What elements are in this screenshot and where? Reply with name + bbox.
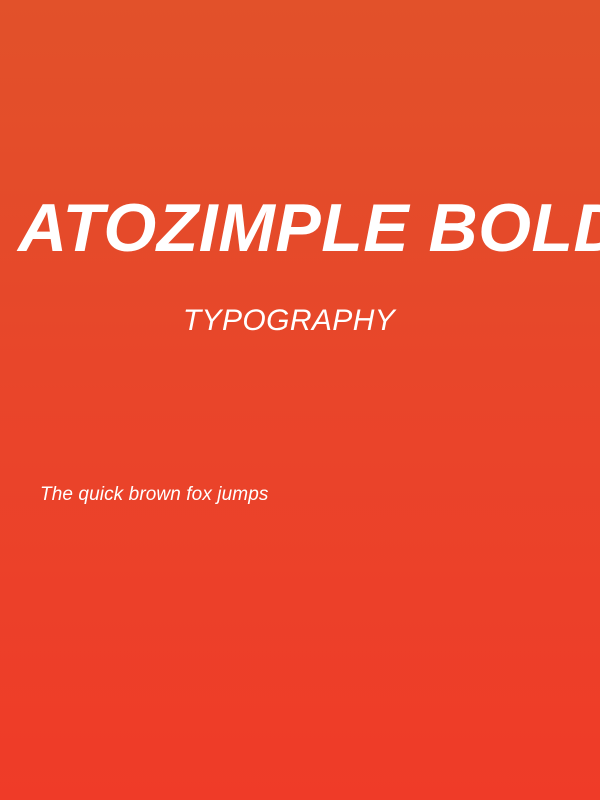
pangram-sample-text: The quick brown fox jumps	[40, 482, 269, 508]
font-name-headline: ATOZIMPLE BOLD ITALIC	[18, 186, 600, 270]
category-subtitle: TYPOGRAPHY	[0, 301, 578, 341]
font-specimen-page: ATOZIMPLE BOLD ITALIC TYPOGRAPHY The qui…	[0, 0, 600, 800]
headline-clip-region: ATOZIMPLE BOLD ITALIC	[0, 186, 600, 270]
